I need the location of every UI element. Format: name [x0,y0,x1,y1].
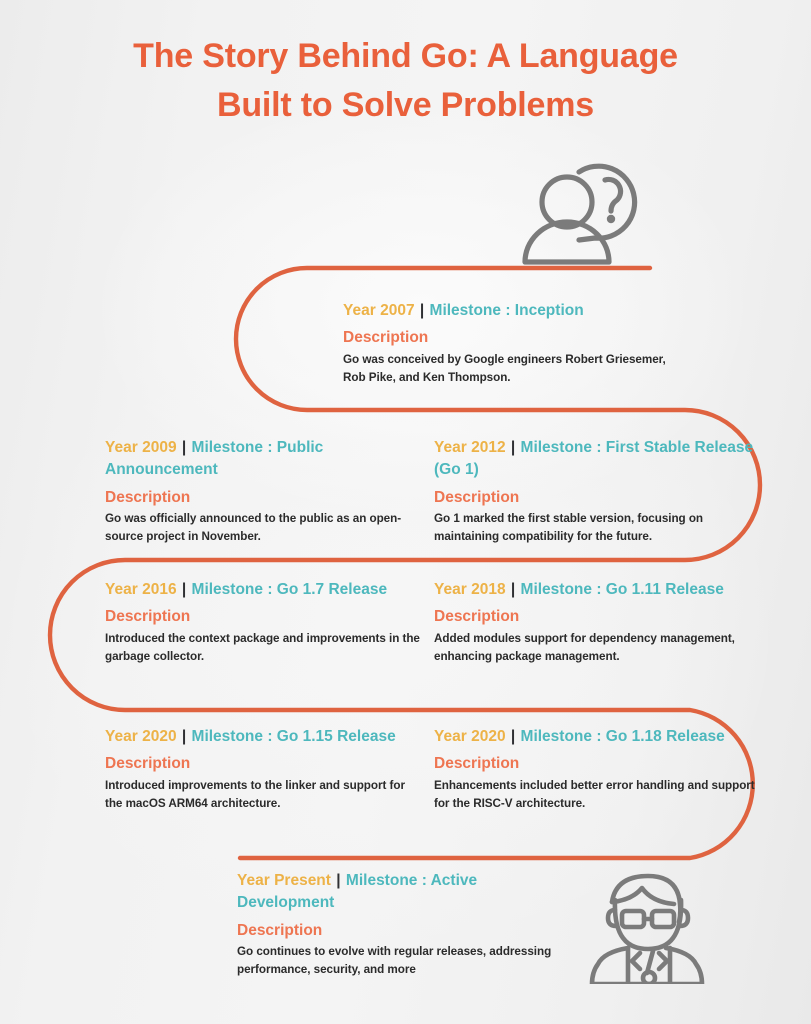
year-label: Year 2012 [434,439,506,456]
separator: | [335,872,341,889]
year-label: Year 2007 [343,302,415,319]
separator: | [510,581,516,598]
description-label: Description [237,919,567,942]
milestone-block: Year 2012 | Milestone : First Stable Rel… [434,437,759,546]
milestone-label: Milestone : Go 1.7 Release [192,581,388,598]
milestone-block: Year 2020 | Milestone : Go 1.15 Release … [105,726,425,813]
year-label: Year 2020 [105,728,177,745]
description-text: Go continues to evolve with regular rele… [237,943,567,979]
description-label: Description [434,752,759,775]
milestone-heading: Year 2018 | Milestone : Go 1.11 Release [434,579,759,601]
milestone-label: Milestone : Go 1.18 Release [521,728,725,745]
separator: | [510,439,516,456]
description-label: Description [105,486,425,509]
milestone-block: Year 2018 | Milestone : Go 1.11 Release … [434,579,759,666]
separator: | [181,581,187,598]
page-title-line-1: The Story Behind Go: A Language [46,32,765,81]
milestone-block: Year Present | Milestone : Active Develo… [237,870,567,979]
milestone-heading: Year 2009 | Milestone : Public Announcem… [105,437,425,482]
description-label: Description [434,486,759,509]
description-text: Go was conceived by Google engineers Rob… [343,351,673,387]
page-title-line-2: Built to Solve Problems [46,81,765,130]
person-question-icon [517,146,659,268]
milestone-block: Year 2009 | Milestone : Public Announcem… [105,437,425,546]
separator: | [510,728,516,745]
separator: | [181,728,187,745]
milestone-label: Milestone : Inception [430,302,584,319]
page-title: The Story Behind Go: A Language Built to… [0,32,811,131]
description-text: Go was officially announced to the publi… [105,510,425,546]
milestone-heading: Year 2020 | Milestone : Go 1.15 Release [105,726,425,748]
year-label: Year 2018 [434,581,506,598]
year-label: Year 2020 [434,728,506,745]
milestone-heading: Year 2007 | Milestone : Inception [343,300,673,322]
description-label: Description [105,605,425,628]
description-text: Introduced improvements to the linker an… [105,777,425,813]
description-text: Added modules support for dependency man… [434,630,759,666]
milestone-block: Year 2020 | Milestone : Go 1.18 Release … [434,726,759,813]
milestone-heading: Year 2020 | Milestone : Go 1.18 Release [434,726,759,748]
year-label: Year 2016 [105,581,177,598]
milestone-heading: Year 2012 | Milestone : First Stable Rel… [434,437,759,482]
milestone-heading: Year 2016 | Milestone : Go 1.7 Release [105,579,425,601]
year-label: Year Present [237,872,331,889]
year-label: Year 2009 [105,439,177,456]
milestone-label: Milestone : Go 1.11 Release [521,581,724,598]
milestone-heading: Year Present | Milestone : Active Develo… [237,870,567,915]
description-text: Go 1 marked the first stable version, fo… [434,510,759,546]
developer-code-icon [586,866,712,984]
separator: | [181,439,187,456]
milestone-block: Year 2007 | Milestone : Inception Descri… [343,300,673,387]
separator: | [419,302,425,319]
description-label: Description [434,605,759,628]
milestone-block: Year 2016 | Milestone : Go 1.7 Release D… [105,579,425,666]
description-text: Introduced the context package and impro… [105,630,425,666]
description-label: Description [343,326,673,349]
description-text: Enhancements included better error handl… [434,777,759,813]
milestone-label: Milestone : Go 1.15 Release [192,728,396,745]
description-label: Description [105,752,425,775]
infographic-poster: The Story Behind Go: A Language Built to… [0,0,811,1024]
